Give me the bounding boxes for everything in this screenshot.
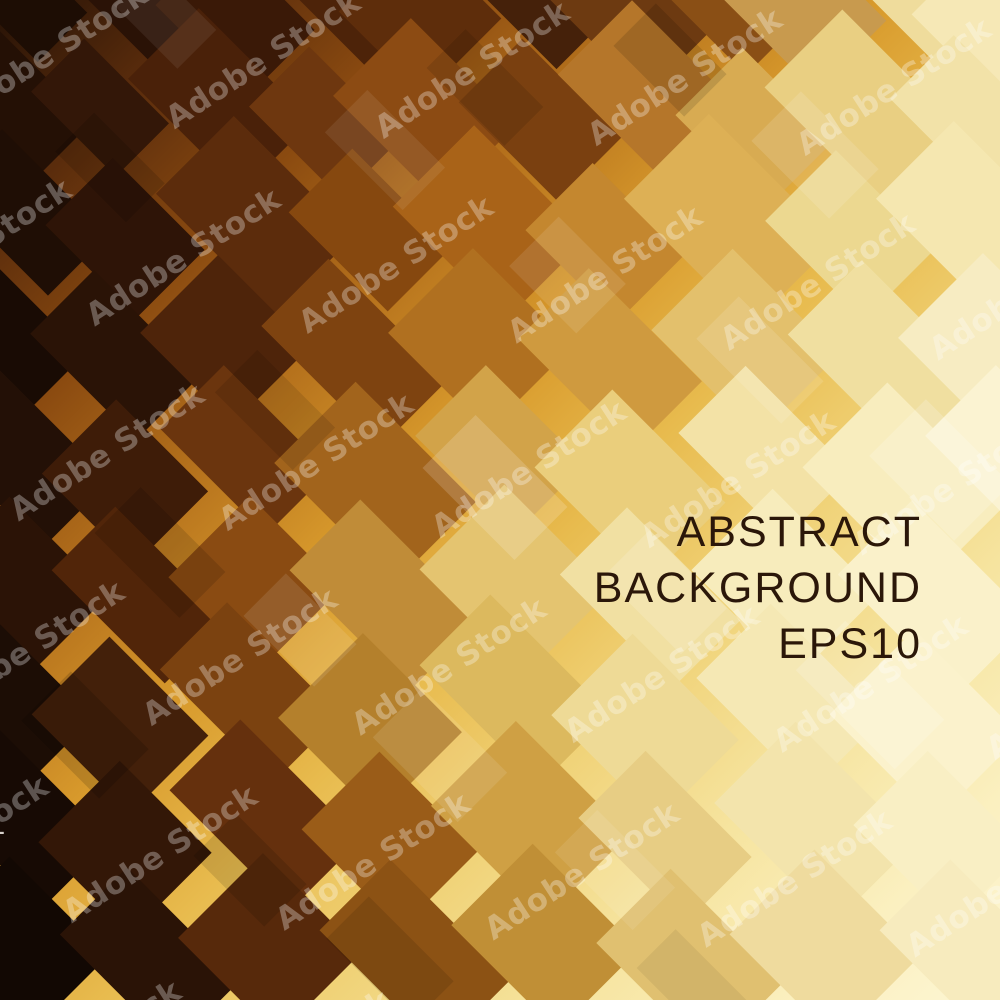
- abstract-background-image: Adobe StockAdobe StockAdobe StockAdobe S…: [0, 0, 1000, 1000]
- headline-line-3: EPS10: [594, 617, 922, 673]
- stock-id-watermark: Adobe Stock | #127969705: [0, 683, 4, 982]
- headline-line-2: BACKGROUND: [594, 561, 922, 617]
- headline-text-block: ABSTRACT BACKGROUND EPS10: [594, 505, 922, 673]
- diagonal-tile-mosaic: [0, 0, 1000, 1000]
- headline-line-1: ABSTRACT: [594, 505, 922, 561]
